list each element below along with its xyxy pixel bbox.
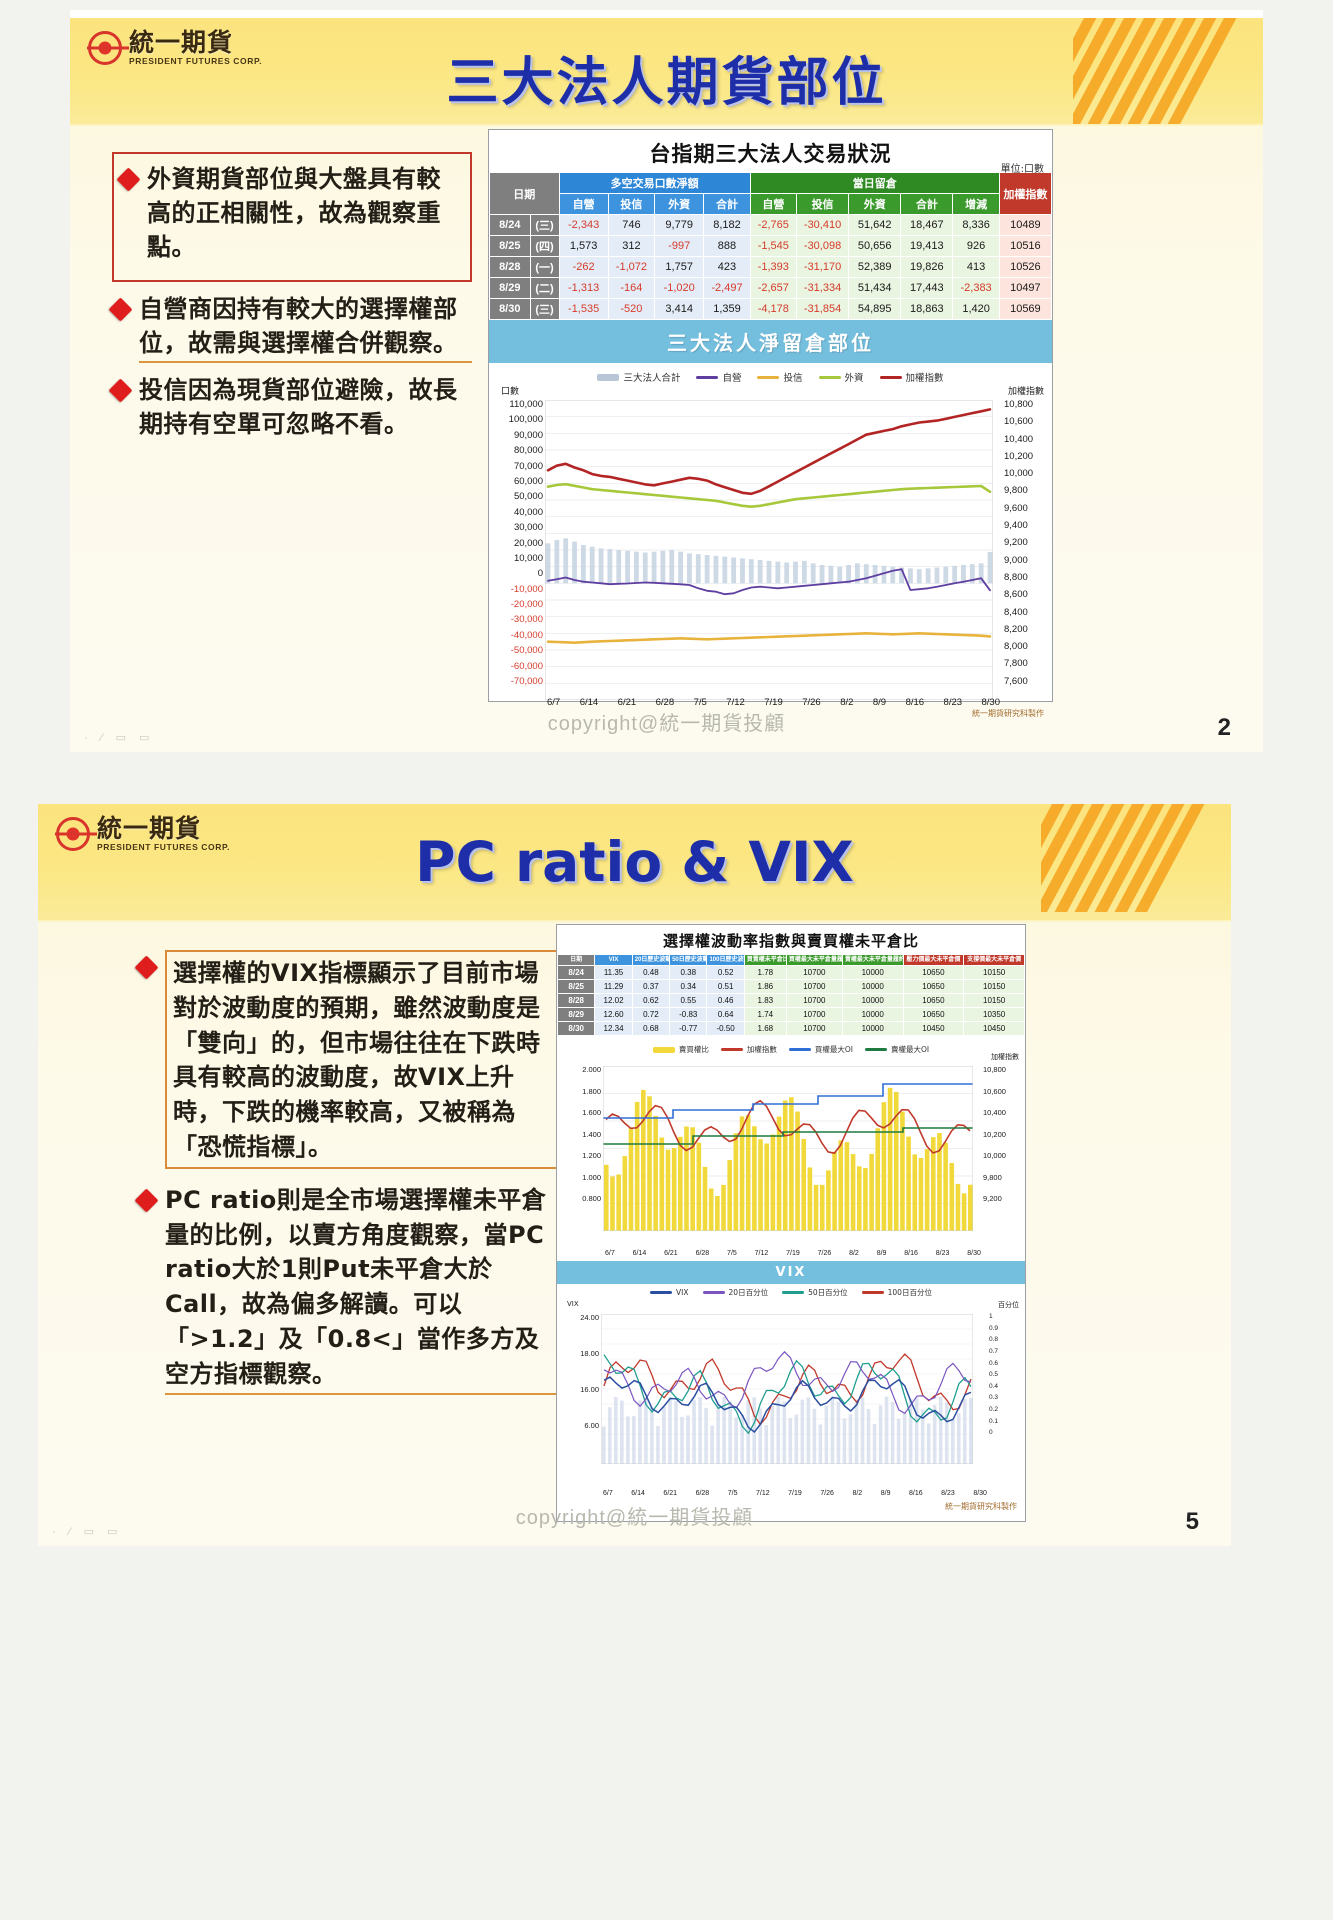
axis-tick: 1.800 [559, 1088, 601, 1110]
table-cell: -1,313 [559, 278, 608, 299]
bullet-item: PC ratio則是全市場選擇權未平倉量的比例，以賣方角度觀察，當PC rati… [138, 1183, 558, 1395]
table-cell: 10497 [999, 278, 1051, 299]
table-cell: 1.68 [744, 1022, 786, 1036]
axis-tick: 110,000 [491, 400, 543, 415]
x-tick: 8/9 [881, 1490, 891, 1497]
table-cell: 746 [608, 215, 654, 236]
axis-tick: 10,600 [983, 1088, 1023, 1110]
table-cell: 10450 [964, 1022, 1025, 1036]
legend-entry: 賣權最大OI [865, 1044, 929, 1055]
slide-2-title: PC ratio & VIX [38, 830, 1231, 894]
axis-tick: 10,000 [983, 1152, 1023, 1174]
x-tick: 6/28 [696, 1250, 710, 1257]
axis-tick: 40,000 [491, 508, 543, 523]
axis-tick: 1.200 [559, 1152, 601, 1174]
axis-tick: 9,800 [1004, 486, 1050, 503]
x-tick: 6/7 [603, 1490, 613, 1497]
table-cell: -1,535 [559, 299, 608, 320]
table-cell: 11.35 [595, 966, 632, 980]
chart-banner: 三大法人淨留倉部位 [489, 320, 1052, 363]
axis-tick: 100,000 [491, 415, 543, 430]
vix-th: 日期 [558, 955, 595, 966]
vix-th: VIX [595, 955, 632, 966]
x-tick: 8/2 [849, 1250, 859, 1257]
axis-tick: 8,800 [1004, 573, 1050, 590]
table-cell: 8,182 [704, 215, 750, 236]
cell-date: 8/29 [558, 1008, 595, 1022]
x-tick: 7/26 [820, 1490, 834, 1497]
vix-table-body: 8/2411.350.480.380.521.78107001000010650… [558, 966, 1025, 1036]
table-cell: 12.34 [595, 1022, 632, 1036]
table-cell: 11.29 [595, 980, 632, 994]
slide-2-body: 選擇權的VIX指標顯示了目前市場對於波動度的預期，雖然波動度是「雙向」的，但市場… [38, 922, 1231, 1546]
table-cell: -1,393 [750, 257, 796, 278]
cell-weekday: (一) [530, 257, 559, 278]
x-tick: 7/12 [756, 1490, 770, 1497]
legend-entry: 加權指數 [721, 1044, 777, 1055]
axis-tick: 1.400 [559, 1131, 601, 1153]
table-cell: 9,779 [655, 215, 704, 236]
pc-y2-axis-ticks: 10,80010,60010,40010,20010,0009,8009,200 [983, 1066, 1023, 1217]
table-cell: -997 [655, 236, 704, 257]
th-sub: 外資 [849, 194, 901, 215]
x-tick: 8/16 [909, 1490, 923, 1497]
table-cell: -520 [608, 299, 654, 320]
axis-tick: 9,200 [983, 1195, 1023, 1217]
slide-1-title: 三大法人期貨部位 [70, 40, 1263, 115]
table-row: 8/30(三)-1,535-5203,4141,359-4,178-31,854… [490, 299, 1052, 320]
institution-trading-table: 日期 多空交易口數淨額 當日留倉 加權指數 自營 投信 外資 合計 自營 [489, 172, 1052, 320]
axis-tick: 8,600 [1004, 590, 1050, 607]
axis-tick: 20,000 [491, 539, 543, 554]
th-group-oi: 當日留倉 [750, 173, 999, 194]
y2-axis-ticks: 10,80010,60010,40010,20010,0009,8009,600… [1004, 400, 1050, 694]
slide-1-figure-panel: 台指期三大法人交易狀況 單位:口數 日期 [488, 129, 1053, 702]
table-cell: 0.46 [707, 994, 744, 1008]
table-row: 8/24(三)-2,3437469,7798,182-2,765-30,4105… [490, 215, 1052, 236]
table-cell: 19,826 [901, 257, 953, 278]
cell-date: 8/28 [558, 994, 595, 1008]
x-tick: 6/28 [696, 1490, 710, 1497]
pc-chart-legend: 賣買權比 加權指數 買權最大OI 賣權最大OI [561, 1042, 1021, 1057]
table-cell: 0.37 [632, 980, 669, 994]
x-tick: 7/12 [755, 1250, 769, 1257]
bullet-item: 自營商因持有較大的選擇權部位，故需與選擇權合併觀察。 [112, 292, 472, 363]
y-axis-ticks: 110,000100,00090,00080,00070,00060,00050… [491, 400, 543, 692]
axis-tick: 70,000 [491, 462, 543, 477]
axis-tick: 0 [491, 569, 543, 584]
axis-tick: 18.00 [559, 1350, 599, 1386]
table-row: 8/2411.350.480.380.521.78107001000010650… [558, 966, 1025, 980]
table-cell: -262 [559, 257, 608, 278]
x-tick: 6/7 [605, 1250, 615, 1257]
y2-axis-label: 加權指數 [1008, 384, 1044, 397]
slide-2-corner-marks: · ⁄ ▭ ▭ [52, 1525, 122, 1538]
table-cell: 51,642 [849, 215, 901, 236]
table-cell: 0.38 [670, 966, 707, 980]
table-cell: 3,414 [655, 299, 704, 320]
table-cell: 51,434 [849, 278, 901, 299]
legend-entry: 投信 [757, 370, 802, 384]
x-tick: 8/30 [967, 1250, 981, 1257]
table-cell: 0.55 [670, 994, 707, 1008]
cell-weekday: (四) [530, 236, 559, 257]
axis-tick: 10,800 [983, 1066, 1023, 1088]
table-cell: -31,334 [797, 278, 849, 299]
vix-y-axis-ticks: 24.0018.0016.006.00 [559, 1314, 599, 1458]
table-cell: 10150 [964, 994, 1025, 1008]
axis-tick: 0.2 [989, 1407, 1023, 1419]
th-group-net: 多空交易口數淨額 [559, 173, 750, 194]
cell-weekday: (三) [530, 299, 559, 320]
axis-tick: 50,000 [491, 492, 543, 507]
axis-tick: 9,400 [1004, 521, 1050, 538]
table-cell: 1.78 [744, 966, 786, 980]
axis-tick: 10,200 [983, 1131, 1023, 1153]
bullet-text: PC ratio則是全市場選擇權未平倉量的比例，以賣方角度觀察，當PC rati… [165, 1183, 558, 1395]
axis-tick: -20,000 [491, 600, 543, 615]
axis-tick: -70,000 [491, 677, 543, 692]
axis-tick: -40,000 [491, 631, 543, 646]
x-tick: 6/21 [664, 1250, 678, 1257]
table-cell: 18,863 [901, 299, 953, 320]
vix-y2-axis-label: 百分位 [998, 1300, 1019, 1310]
table-cell: 10700 [786, 980, 842, 994]
cell-date: 8/30 [558, 1022, 595, 1036]
vix-th: 壓力價最大未平倉價 [903, 955, 964, 966]
table-row: 8/2912.600.72-0.830.641.7410700100001065… [558, 1008, 1025, 1022]
diamond-bullet-icon [116, 167, 140, 191]
slide-2-bullet-list: 選擇權的VIX指標顯示了目前市場對於波動度的預期，雖然波動度是「雙向」的，但市場… [138, 950, 558, 1405]
table-cell: 926 [953, 236, 999, 257]
table-cell: 10150 [964, 980, 1025, 994]
table-cell: 0.52 [707, 966, 744, 980]
table-cell: -0.83 [670, 1008, 707, 1022]
table-cell: 312 [608, 236, 654, 257]
bullet-highlight-box: 外資期貨部位與大盤具有較高的正相關性，故為觀察重點。 [112, 152, 472, 282]
axis-tick: 16.00 [559, 1386, 599, 1422]
vix-chart-banner: VIX [557, 1261, 1025, 1284]
table-cell: 19,413 [901, 236, 953, 257]
figure-unit-note: 單位:口數 [1001, 160, 1044, 175]
slide-2-header-banner: 統一期貨 PRESIDENT FUTURES CORP. PC ratio & … [38, 804, 1231, 922]
table-cell: 0.34 [670, 980, 707, 994]
axis-tick: -60,000 [491, 662, 543, 677]
table-cell: 10650 [903, 966, 964, 980]
x-tick: 8/30 [973, 1490, 987, 1497]
x-tick: 8/23 [936, 1250, 950, 1257]
axis-tick: 8,000 [1004, 642, 1050, 659]
vix-y2-axis-ticks: 10.90.80.70.60.50.40.30.20.10 [989, 1314, 1023, 1442]
x-tick: 6/14 [631, 1490, 645, 1497]
cell-date: 8/25 [490, 236, 531, 257]
slide-1-body: 外資期貨部位與大盤具有較高的正相關性，故為觀察重點。 自營商因持有較大的選擇權部… [70, 126, 1263, 752]
vix-plot: VIX 20日百分位 50日百分位 100日百分位 VIX 百分位 24.001… [557, 1284, 1025, 1499]
legend-entry: 100日百分位 [862, 1287, 932, 1298]
axis-tick: 7,600 [1004, 677, 1050, 694]
th-sub: 增減 [953, 194, 999, 215]
table-cell: 50,656 [849, 236, 901, 257]
axis-tick: -10,000 [491, 585, 543, 600]
slide-1-page-number: 2 [1218, 714, 1231, 742]
bullet-text: 自營商因持有較大的選擇權部位，故需與選擇權合併觀察。 [139, 292, 472, 363]
pc-ratio-plot: 賣買權比 加權指數 買權最大OI 賣權最大OI 加權指數 2.0001.8001… [557, 1036, 1025, 1261]
table-cell: 8,336 [953, 215, 999, 236]
table-cell: 10150 [964, 966, 1025, 980]
table-cell: -31,170 [797, 257, 849, 278]
axis-tick: 2.000 [559, 1066, 601, 1088]
axis-tick: 6.00 [559, 1422, 599, 1458]
table-cell: 10000 [842, 994, 903, 1008]
slide-2-copyright: copyright@統一期貨投顧 [38, 1501, 1231, 1530]
diamond-bullet-icon [134, 955, 158, 979]
table-cell: 10000 [842, 1022, 903, 1036]
presentation-page: 統一期貨 PRESIDENT FUTURES CORP. 三大法人期貨部位 外資… [0, 10, 1333, 1546]
axis-tick: 0.800 [559, 1195, 601, 1217]
legend-entry: VIX [650, 1287, 688, 1298]
th-sub: 自營 [559, 194, 608, 215]
x-tick: 7/26 [818, 1250, 832, 1257]
table-cell: 10700 [786, 1008, 842, 1022]
vix-table-header-row: 日期VIX20日歷史波動率50日歷史波動率100日歷史波動率買賣權未平倉比買權最… [558, 955, 1025, 966]
table-cell: 10000 [842, 1008, 903, 1022]
pc-y2-axis-label: 加權指數 [991, 1052, 1019, 1062]
table-cell: 17,443 [901, 278, 953, 299]
cell-date: 8/24 [558, 966, 595, 980]
vix-th: 賣權最大未平倉量履約價 [842, 955, 903, 966]
table-cell: 10450 [903, 1022, 964, 1036]
table-cell: 10000 [842, 966, 903, 980]
axis-tick: 10,200 [1004, 452, 1050, 469]
vix-x-axis-ticks: 6/76/146/216/287/57/127/197/268/28/98/16… [557, 1490, 1025, 1497]
table-cell: 10650 [903, 1008, 964, 1022]
axis-tick: 60,000 [491, 477, 543, 492]
table-cell: -30,410 [797, 215, 849, 236]
legend-entry: 加權指數 [880, 370, 944, 384]
table-cell: -2,343 [559, 215, 608, 236]
table-cell: 1,573 [559, 236, 608, 257]
th-sub: 投信 [797, 194, 849, 215]
diamond-bullet-icon [134, 1188, 158, 1212]
bullet-text: 外資期貨部位與大盤具有較高的正相關性，故為觀察重點。 [147, 162, 460, 264]
chart-legend: 三大法人合計 自營 投信 外資 加權指數 [489, 363, 1052, 386]
vix-th: 100日歷史波動率 [707, 955, 744, 966]
table-cell: -1,072 [608, 257, 654, 278]
diamond-bullet-icon [108, 379, 132, 403]
net-position-plot: 口數 加權指數 110,000100,00090,00080,00070,000… [489, 386, 1052, 706]
slide-2: 統一期貨 PRESIDENT FUTURES CORP. PC ratio & … [38, 804, 1231, 1546]
axis-tick: 10,000 [1004, 469, 1050, 486]
th-date: 日期 [490, 173, 560, 215]
table-cell: 0.62 [632, 994, 669, 1008]
cell-weekday: (三) [530, 215, 559, 236]
axis-tick: 90,000 [491, 431, 543, 446]
table-cell: 10569 [999, 299, 1051, 320]
table-cell: 888 [704, 236, 750, 257]
legend-entry: 20日百分位 [703, 1287, 769, 1298]
cell-weekday: (二) [530, 278, 559, 299]
pc-chart-svg [603, 1066, 973, 1231]
axis-tick: 9,600 [1004, 504, 1050, 521]
axis-tick: 24.00 [559, 1314, 599, 1350]
slide-1-corner-marks: · ⁄ ▭ ▭ [84, 731, 154, 744]
table-cell: 1.83 [744, 994, 786, 1008]
figure-title: 台指期三大法人交易狀況 [489, 130, 1052, 172]
axis-tick: 8,400 [1004, 608, 1050, 625]
axis-tick: 0.1 [989, 1419, 1023, 1431]
axis-tick: 80,000 [491, 446, 543, 461]
table-cell: -2,657 [750, 278, 796, 299]
table-row: 8/3012.340.68-0.77-0.501.681070010000104… [558, 1022, 1025, 1036]
table-cell: -2,765 [750, 215, 796, 236]
table-row: 8/28(一)-262-1,0721,757423-1,393-31,17052… [490, 257, 1052, 278]
table-cell: 10489 [999, 215, 1051, 236]
axis-tick: 0.7 [989, 1349, 1023, 1361]
table-cell: -0.77 [670, 1022, 707, 1036]
table-cell: 10650 [903, 994, 964, 1008]
table-cell: 10350 [964, 1008, 1025, 1022]
legend-entry: 自營 [696, 370, 741, 384]
cell-date: 8/28 [490, 257, 531, 278]
table-cell: -4,178 [750, 299, 796, 320]
table-cell: 12.02 [595, 994, 632, 1008]
table-cell: -164 [608, 278, 654, 299]
axis-tick: 10,400 [983, 1109, 1023, 1131]
x-tick: 7/19 [788, 1490, 802, 1497]
table-cell: -1,545 [750, 236, 796, 257]
table-cell: 10526 [999, 257, 1051, 278]
axis-tick: 7,800 [1004, 659, 1050, 676]
table-cell: -31,854 [797, 299, 849, 320]
cell-date: 8/24 [490, 215, 531, 236]
axis-tick: 30,000 [491, 523, 543, 538]
legend-entry: 買權最大OI [789, 1044, 853, 1055]
table-cell: 413 [953, 257, 999, 278]
x-tick: 7/19 [786, 1250, 800, 1257]
bullet-text: 選擇權的VIX指標顯示了目前市場對於波動度的預期，雖然波動度是「雙向」的，但市場… [165, 950, 558, 1169]
vix-th: 50日歷史波動率 [670, 955, 707, 966]
table-cell: 10000 [842, 980, 903, 994]
table-cell: 10700 [786, 1022, 842, 1036]
cell-date: 8/30 [490, 299, 531, 320]
x-tick: 8/23 [941, 1490, 955, 1497]
table-cell: 0.51 [707, 980, 744, 994]
table-cell: 0.64 [707, 1008, 744, 1022]
axis-tick: 1.600 [559, 1109, 601, 1131]
vix-th: 20日歷史波動率 [632, 955, 669, 966]
slide-2-figure-panel: 選擇權波動率指數與賣買權未平倉比 日期VIX20日歷史波動率50日歷史波動率10… [556, 924, 1026, 1522]
table-cell: 1,420 [953, 299, 999, 320]
table-cell: 54,895 [849, 299, 901, 320]
y-axis-label: 口數 [501, 384, 519, 397]
table-cell: 18,467 [901, 215, 953, 236]
th-sub: 自營 [750, 194, 796, 215]
chart-svg [545, 400, 993, 700]
x-tick: 8/2 [852, 1490, 862, 1497]
cell-date: 8/29 [490, 278, 531, 299]
bullet-item: 選擇權的VIX指標顯示了目前市場對於波動度的預期，雖然波動度是「雙向」的，但市場… [138, 950, 558, 1169]
axis-tick: -30,000 [491, 615, 543, 630]
vix-chart-svg [601, 1314, 973, 1464]
table-cell: 10700 [786, 994, 842, 1008]
figure-title: 選擇權波動率指數與賣買權未平倉比 [557, 925, 1025, 954]
vix-th: 買權最大未平倉量履約價 [786, 955, 842, 966]
table-cell: 0.72 [632, 1008, 669, 1022]
table-row: 8/2812.020.620.550.461.83107001000010650… [558, 994, 1025, 1008]
bullet-item: 投信因為現貨部位避險，故長期持有空單可忽略不看。 [112, 373, 472, 441]
slide-2-page-number: 5 [1186, 1508, 1199, 1536]
table-body: 8/24(三)-2,3437469,7798,182-2,765-30,4105… [490, 215, 1052, 320]
slide-1-header-banner: 統一期貨 PRESIDENT FUTURES CORP. 三大法人期貨部位 [70, 18, 1263, 126]
legend-entry: 賣買權比 [653, 1044, 709, 1055]
legend-entry: 50日百分位 [782, 1287, 848, 1298]
table-cell: 12.60 [595, 1008, 632, 1022]
table-cell: -1,020 [655, 278, 704, 299]
x-tick: 6/21 [663, 1490, 677, 1497]
vix-chart-legend: VIX 20日百分位 50日百分位 100日百分位 [561, 1284, 1021, 1300]
axis-tick: 8,200 [1004, 625, 1050, 642]
table-cell: 10516 [999, 236, 1051, 257]
th-sub: 投信 [608, 194, 654, 215]
cell-date: 8/25 [558, 980, 595, 994]
table-cell: 10700 [786, 966, 842, 980]
table-cell: 0.68 [632, 1022, 669, 1036]
legend-entry: 外資 [819, 370, 864, 384]
slide-1: 統一期貨 PRESIDENT FUTURES CORP. 三大法人期貨部位 外資… [70, 10, 1263, 752]
table-cell: 1,757 [655, 257, 704, 278]
vix-y-axis-label: VIX [567, 1300, 579, 1308]
x-tick: 8/16 [904, 1250, 918, 1257]
axis-tick: 1.000 [559, 1174, 601, 1196]
diamond-bullet-icon [108, 298, 132, 322]
table-cell: 0.48 [632, 966, 669, 980]
vix-th: 買賣權未平倉比 [744, 955, 786, 966]
x-tick: 7/5 [728, 1490, 738, 1497]
bullet-item: 外資期貨部位與大盤具有較高的正相關性，故為觀察重點。 [120, 162, 460, 264]
axis-tick: -50,000 [491, 646, 543, 661]
table-cell: 1.86 [744, 980, 786, 994]
table-cell: 52,389 [849, 257, 901, 278]
th-sub: 合計 [704, 194, 750, 215]
axis-tick: 10,800 [1004, 400, 1050, 417]
table-cell: -30,098 [797, 236, 849, 257]
table-cell: 1.74 [744, 1008, 786, 1022]
bullet-text: 投信因為現貨部位避險，故長期持有空單可忽略不看。 [139, 373, 472, 441]
table-cell: -2,383 [953, 278, 999, 299]
x-tick: 8/9 [877, 1250, 887, 1257]
slide-1-copyright: copyright@統一期貨投顧 [70, 707, 1263, 736]
table-row: 8/29(二)-1,313-164-1,020-2,497-2,657-31,3… [490, 278, 1052, 299]
th-sub: 外資 [655, 194, 704, 215]
table-cell: 1,359 [704, 299, 750, 320]
x-tick: 7/5 [727, 1250, 737, 1257]
table-cell: -0.50 [707, 1022, 744, 1036]
table-cell: -2,497 [704, 278, 750, 299]
table-row: 8/25(四)1,573312-997888-1,545-30,09850,65… [490, 236, 1052, 257]
table-cell: 10650 [903, 980, 964, 994]
pc-y-axis-ticks: 2.0001.8001.6001.4001.2001.0000.800 [559, 1066, 601, 1217]
table-row: 8/2511.290.370.340.511.86107001000010650… [558, 980, 1025, 994]
axis-tick: 10,600 [1004, 417, 1050, 434]
legend-entry: 三大法人合計 [597, 370, 680, 384]
slide-1-bullet-list: 外資期貨部位與大盤具有較高的正相關性，故為觀察重點。 自營商因持有較大的選擇權部… [112, 152, 472, 452]
axis-tick: 10,000 [491, 554, 543, 569]
vix-pcratio-table: 日期VIX20日歷史波動率50日歷史波動率100日歷史波動率買賣權未平倉比買權最… [557, 954, 1025, 1036]
vix-th: 支撐價最大未平倉價 [964, 955, 1025, 966]
axis-tick: 9,800 [983, 1174, 1023, 1196]
axis-tick: 10,400 [1004, 435, 1050, 452]
th-sub: 合計 [901, 194, 953, 215]
